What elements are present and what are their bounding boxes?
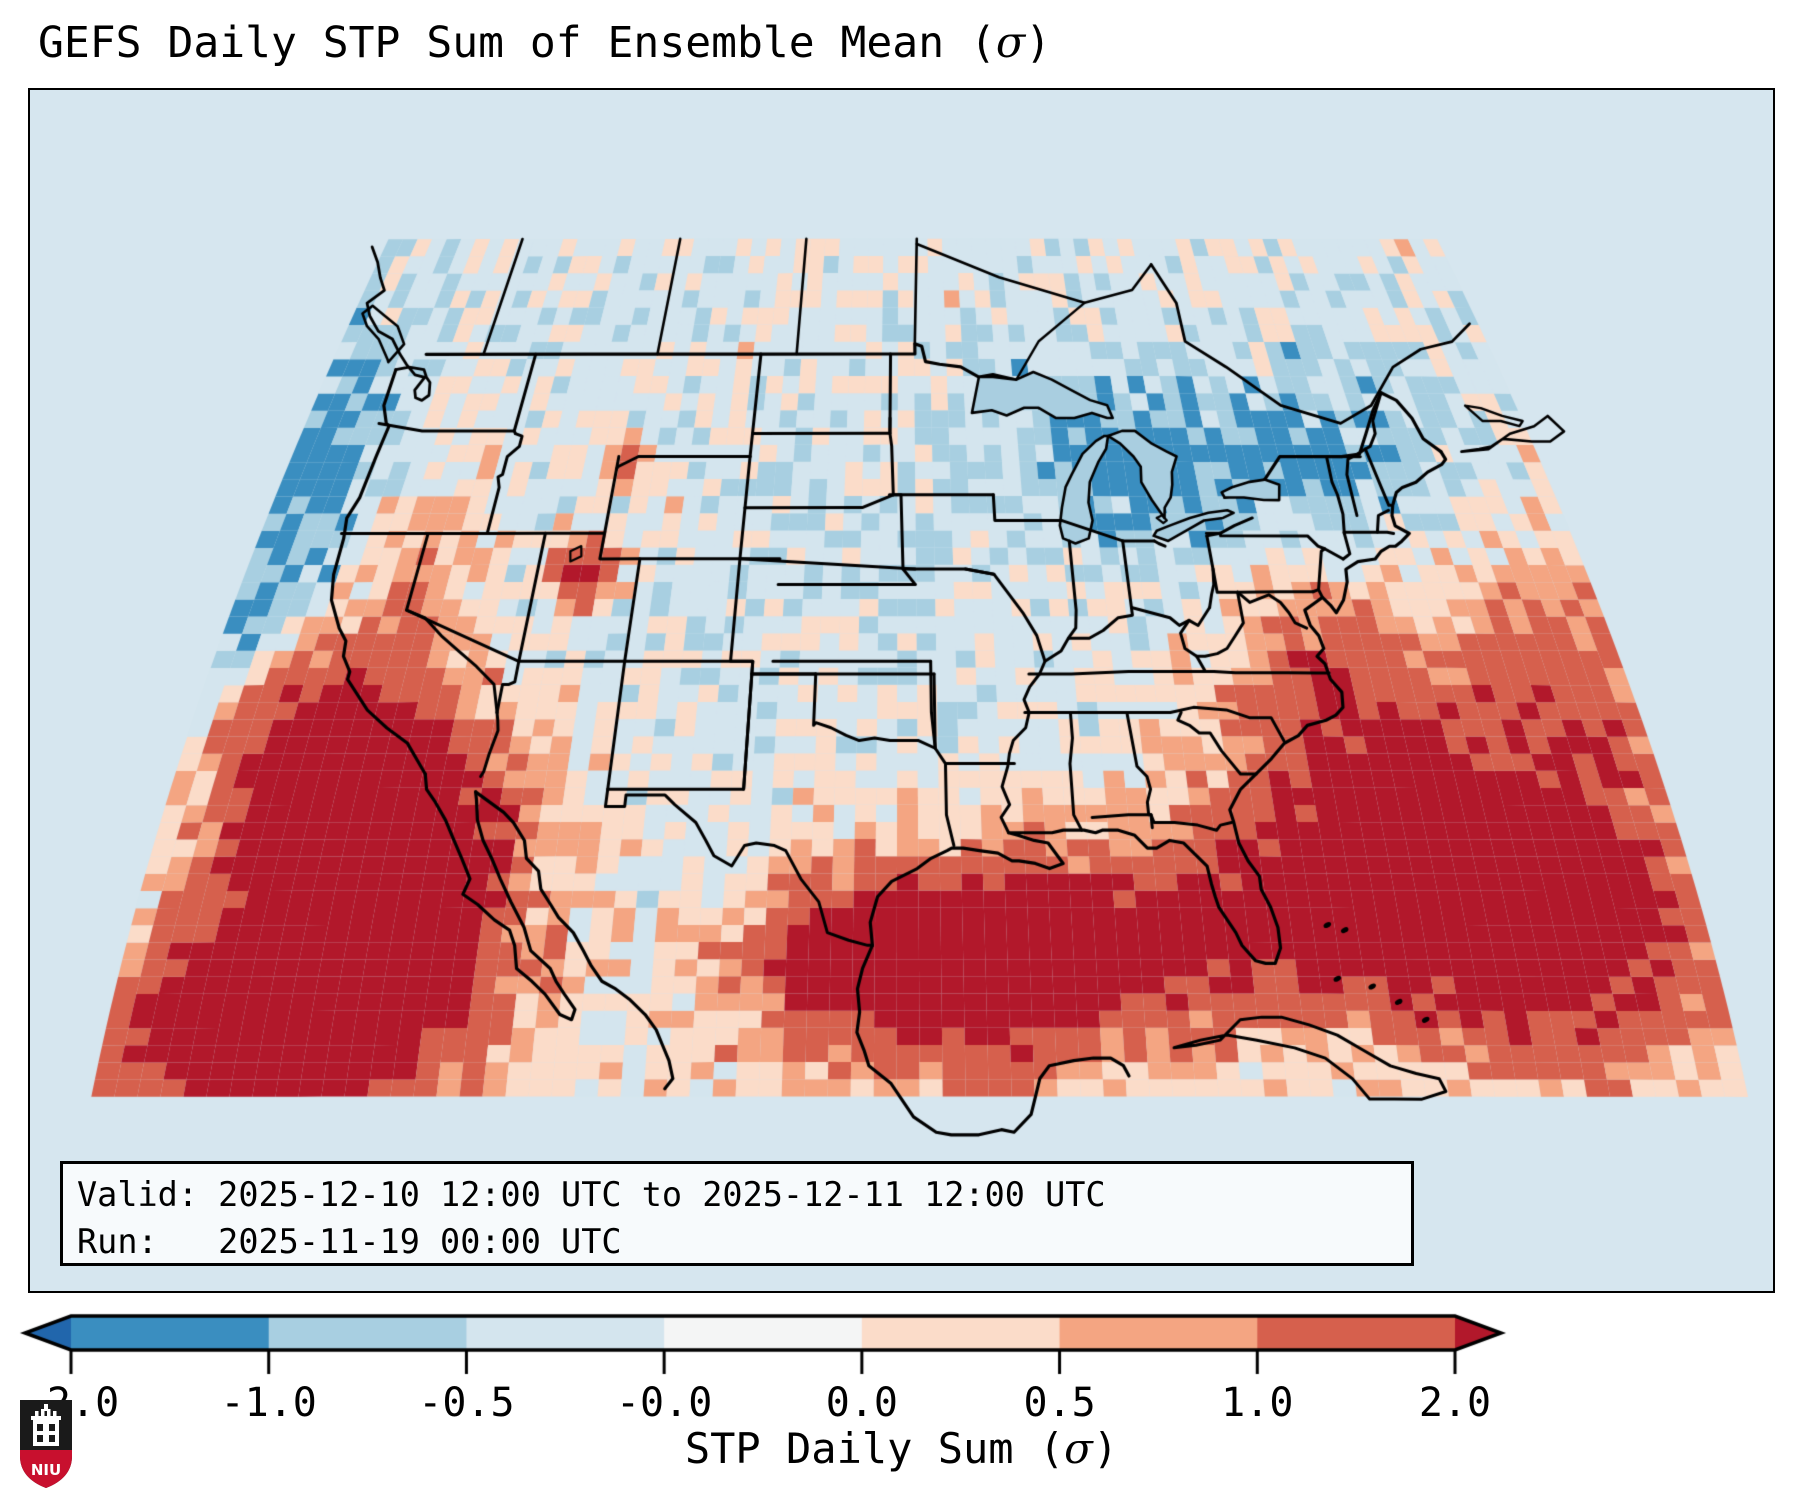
colorbar-tick-label: 1.0 <box>1221 1380 1293 1426</box>
niu-logo: NIU <box>18 1398 74 1490</box>
valid-run-infobox: Valid: 2025-12-10 12:00 UTC to 2025-12-1… <box>60 1161 1414 1266</box>
niu-logo-text: NIU <box>31 1461 61 1479</box>
colorbar-group[interactable]: -2.0-1.0-0.5-0.00.00.51.02.0 <box>0 1296 1803 1426</box>
map-panel[interactable] <box>28 88 1775 1293</box>
colorbar-label-prefix: STP Daily Sum ( <box>685 1424 1064 1473</box>
colorbar-tick-label: 0.0 <box>826 1380 898 1426</box>
title-text-prefix: GEFS Daily STP Sum of Ensemble Mean ( <box>38 18 996 68</box>
stp-heatmap-canvas[interactable] <box>30 90 1772 1290</box>
figure-root: GEFS Daily STP Sum of Ensemble Mean (σ) … <box>0 0 1803 1506</box>
colorbar-tick-label: -0.5 <box>418 1380 514 1426</box>
colorbar-sigma-symbol: σ <box>1064 1424 1093 1473</box>
colorbar-tick-label: 2.0 <box>1419 1380 1491 1426</box>
infobox-line-run: Run: 2025-11-19 00:00 UTC <box>77 1222 622 1261</box>
colorbar-axis-label: STP Daily Sum (σ) <box>0 1424 1803 1473</box>
title-sigma-symbol: σ <box>996 18 1025 68</box>
colorbar-tick-label: -0.0 <box>616 1380 712 1426</box>
colorbar-tick-label: -1.0 <box>221 1380 317 1426</box>
colorbar-tick-label: 0.5 <box>1023 1380 1095 1426</box>
colorbar-label-suffix: ) <box>1093 1424 1118 1473</box>
figure-title: GEFS Daily STP Sum of Ensemble Mean (σ) <box>38 18 1051 68</box>
title-text-suffix: ) <box>1025 18 1051 68</box>
infobox-line-valid: Valid: 2025-12-10 12:00 UTC to 2025-12-1… <box>77 1175 1106 1214</box>
